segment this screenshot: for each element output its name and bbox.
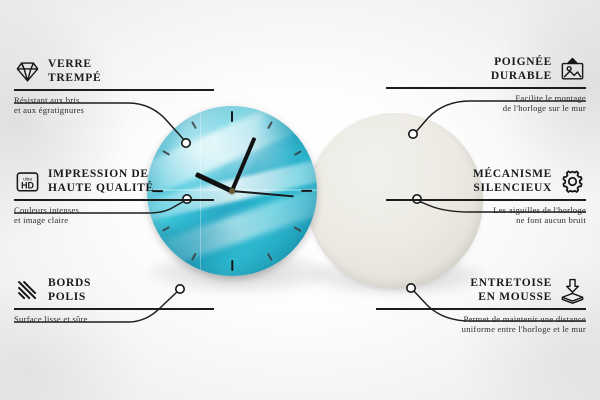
feature-poignee-durable: POIGNÉE DURABLE Facilite le montage de l… (386, 56, 586, 114)
feature-description: Permet de maintenir une distance uniform… (376, 314, 586, 335)
feature-header: ultra HD IMPRESSION DE HAUTE QUALITÉ (14, 168, 214, 195)
feature-description: Couleurs intenses et image claire (14, 205, 214, 226)
divider (14, 308, 214, 310)
feature-title: ENTRETOISE EN MOUSSE (470, 277, 552, 304)
feature-title: BORDS POLIS (48, 277, 91, 304)
clock-tick (294, 226, 302, 232)
divider (376, 308, 586, 310)
feature-title: POIGNÉE DURABLE (491, 56, 552, 83)
feature-header: ENTRETOISE EN MOUSSE (376, 277, 586, 304)
feature-title: MÉCANISME SILENCIEUX (473, 168, 552, 195)
divider (386, 199, 586, 201)
arrow-press-layer-icon (559, 277, 586, 304)
divider (386, 87, 586, 89)
feature-header: VERRE TREMPÉ (14, 58, 214, 85)
divider (14, 199, 214, 201)
clock-tick (231, 111, 233, 122)
feature-header: BORDS POLIS (14, 277, 214, 304)
feature-bords-polis: BORDS POLIS Surface lisse et sûre (14, 277, 214, 324)
feature-mecanisme-silencieux: MÉCANISME SILENCIEUX Les aiguilles de l'… (386, 168, 586, 226)
gear-icon (559, 168, 586, 195)
feature-verre-trempe: VERRE TREMPÉ Résistant aux bris et aux é… (14, 58, 214, 116)
feature-description: Les aiguilles de l'horloge ne font aucun… (386, 205, 586, 226)
feature-impression-haute-qualite: ultra HD IMPRESSION DE HAUTE QUALITÉ Cou… (14, 168, 214, 226)
feature-title: VERRE TREMPÉ (48, 58, 101, 85)
divider (14, 89, 214, 91)
clock-tick (267, 253, 273, 261)
infographic-canvas: VERRE TREMPÉ Résistant aux bris et aux é… (0, 0, 600, 400)
feature-title: IMPRESSION DE HAUTE QUALITÉ (48, 168, 154, 195)
feature-header: POIGNÉE DURABLE (386, 56, 586, 83)
clock-tick (267, 121, 273, 129)
second-hand (232, 190, 294, 197)
feature-description: Résistant aux bris et aux égratignures (14, 95, 214, 116)
clock-center-hub (229, 188, 235, 194)
feature-description: Surface lisse et sûre (14, 314, 214, 325)
ultra-hd-badge-icon: ultra HD (14, 168, 41, 195)
clock-tick (294, 150, 302, 156)
clock-tick (191, 253, 197, 261)
feature-description: Facilite le montage de l'horloge sur le … (386, 93, 586, 114)
feature-entretoise-en-mousse: ENTRETOISE EN MOUSSE Permet de maintenir… (376, 277, 586, 335)
clock-tick (231, 260, 233, 271)
clock-tick (301, 190, 312, 192)
feature-header: MÉCANISME SILENCIEUX (386, 168, 586, 195)
diamond-icon (14, 58, 41, 85)
hanging-picture-frame-icon (559, 56, 586, 83)
svg-text:HD: HD (21, 180, 34, 190)
diagonal-lines-icon (14, 277, 41, 304)
